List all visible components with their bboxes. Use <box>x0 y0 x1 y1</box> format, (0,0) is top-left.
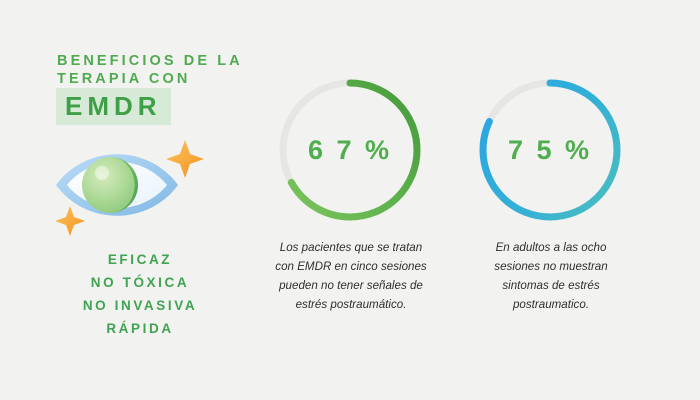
emdr-label: EMDR <box>65 92 162 120</box>
left-column: BENEFICIOS DE LA TERAPIA CON EMDR <box>0 0 250 400</box>
donut-chart-75: 7 5 % <box>470 70 630 230</box>
benefits-list: EFICAZ NO TÓXICA NO INVASIVA RÁPIDA <box>40 248 240 340</box>
eye-icon <box>48 128 218 236</box>
eye-illustration <box>48 128 218 236</box>
sparkle-icon-bottom <box>55 206 85 236</box>
donut-67-caption: Los pacientes que se tratan con EMDR en … <box>272 238 430 314</box>
eye-highlight <box>95 166 109 180</box>
title-line-1: BENEFICIOS DE LA <box>57 52 247 70</box>
sparkle-icon-top <box>166 140 204 178</box>
benefit-item-2: NO TÓXICA <box>40 271 240 294</box>
title-line-2: TERAPIA CON <box>57 70 247 88</box>
page-title: BENEFICIOS DE LA TERAPIA CON <box>57 52 247 88</box>
donut-75-svg <box>470 70 630 230</box>
benefit-item-3: NO INVASIVA <box>40 294 240 317</box>
infographic-canvas: BENEFICIOS DE LA TERAPIA CON EMDR <box>0 0 700 400</box>
benefit-item-4: RÁPIDA <box>40 317 240 340</box>
emdr-highlight: EMDR <box>56 88 171 125</box>
donut-75-caption: En adultos a las ocho sesiones no muestr… <box>472 238 630 314</box>
donut-chart-67: 6 7 % <box>270 70 430 230</box>
donut-67-svg <box>270 70 430 230</box>
benefit-item-1: EFICAZ <box>40 248 240 271</box>
